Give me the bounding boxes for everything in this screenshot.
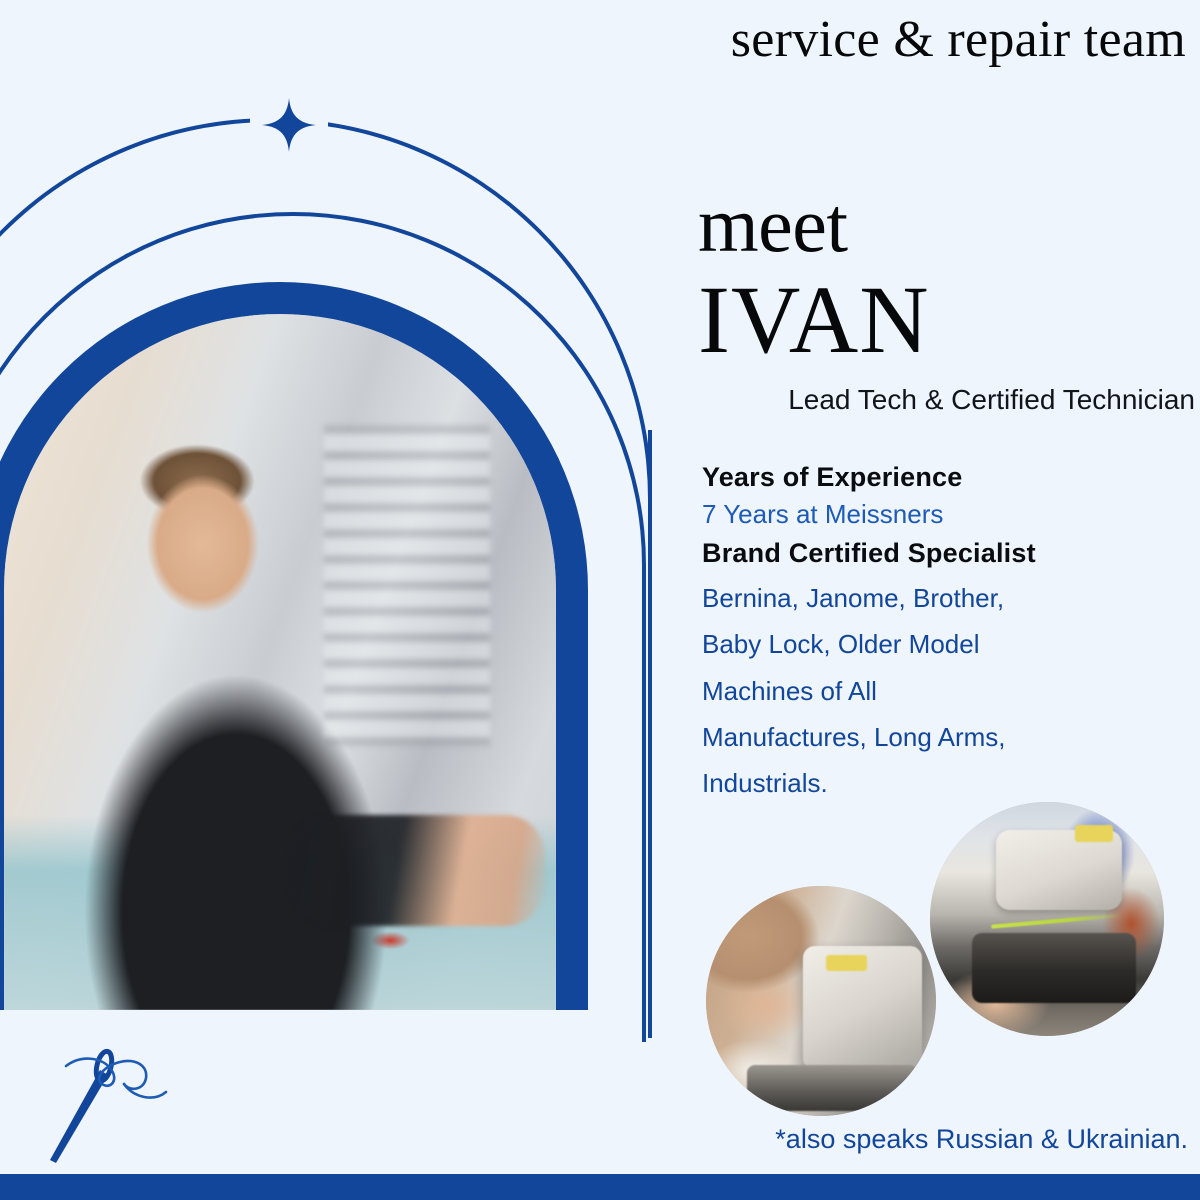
repair-photo-large <box>930 802 1164 1036</box>
needle-and-thread-logo <box>38 1036 188 1166</box>
experience-value: 7 Years at Meissners <box>702 499 1200 530</box>
brand-list: Bernina, Janome, Brother, Baby Lock, Old… <box>702 575 1200 806</box>
poster-canvas: service & repair team meet IVAN Lead Tec… <box>0 0 1200 1200</box>
machine-head-shape <box>996 830 1122 910</box>
brand-list-line: Manufactures, Long Arms, <box>702 714 1200 760</box>
machine-mechanism-shape <box>972 933 1136 1003</box>
brands-heading: Brand Certified Specialist <box>702 538 1200 569</box>
experience-heading: Years of Experience <box>702 462 1200 493</box>
brand-list-line: Industrials. <box>702 760 1200 806</box>
machine-label-shape <box>1075 825 1112 841</box>
machine-base-shape <box>747 1065 917 1111</box>
brand-list-line: Bernina, Janome, Brother, <box>702 575 1200 621</box>
repair-photo-small <box>706 886 936 1116</box>
portrait-arm-and-tool <box>291 815 545 926</box>
meet-label: meet <box>698 188 848 262</box>
technician-role: Lead Tech & Certified Technician <box>788 384 1195 416</box>
brand-list-line: Machines of All <box>702 668 1200 714</box>
technician-portrait <box>4 314 556 1010</box>
brand-list-line: Baby Lock, Older Model <box>702 621 1200 667</box>
four-point-star-icon <box>262 98 316 152</box>
details-block: Years of Experience 7 Years at Meissners… <box>702 462 1200 806</box>
machine-label-shape <box>826 955 867 971</box>
bottom-accent-bar <box>0 1174 1200 1200</box>
technician-name: IVAN <box>698 274 930 365</box>
portrait-background-shelving <box>324 425 490 745</box>
vertical-divider <box>648 430 652 1030</box>
